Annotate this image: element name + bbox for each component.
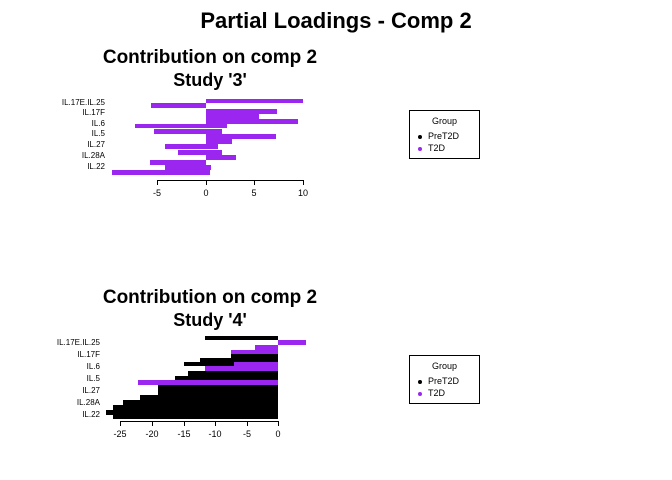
plot-area-study-4: IL.17E.IL.25 IL.17F IL.6 IL.5 IL.27 IL.2…	[0, 280, 400, 480]
bar-segment	[165, 144, 206, 149]
x-tick	[278, 421, 279, 426]
x-tick	[157, 180, 158, 185]
bar-segment	[205, 336, 278, 340]
bar-segment	[206, 134, 276, 139]
bar-segment	[112, 170, 206, 175]
bar-segment	[206, 170, 210, 175]
bar-segment	[113, 415, 278, 419]
x-tick-label: -20	[145, 429, 158, 439]
legend-item-t2d[interactable]: T2D	[418, 389, 445, 398]
bar-segment	[206, 155, 236, 160]
x-axis-line-study-3	[157, 180, 304, 181]
bar-segment	[206, 124, 227, 129]
bar-segment	[154, 129, 206, 134]
x-tick-label: -10	[208, 429, 221, 439]
bars-study-4	[0, 280, 400, 480]
x-tick-label: -5	[243, 429, 251, 439]
legend-label-pret2d: PreT2D	[428, 377, 459, 386]
x-tick-label: -5	[153, 188, 161, 198]
legend-label-t2d: T2D	[428, 389, 445, 398]
x-tick-label: 10	[298, 188, 308, 198]
x-tick	[184, 421, 185, 426]
x-tick-label: 0	[275, 429, 280, 439]
bar-segment	[206, 144, 218, 149]
figure-canvas: Partial Loadings - Comp 2 Contribution o…	[0, 0, 672, 480]
legend-item-pret2d[interactable]: PreT2D	[418, 132, 459, 141]
bar-segment	[178, 150, 206, 155]
x-tick	[254, 180, 255, 185]
legend-label-pret2d: PreT2D	[428, 132, 459, 141]
plot-area-study-3: IL.17E.IL.25 IL.17F IL.6 IL.5 IL.27 IL.2…	[0, 40, 400, 220]
legend-title: Group	[410, 361, 479, 371]
page-title: Partial Loadings - Comp 2	[0, 8, 672, 34]
legend-study-3: Group PreT2D T2D	[409, 110, 480, 159]
bar-segment	[278, 340, 306, 345]
legend-dot-t2d	[418, 147, 422, 151]
panel-study-4: Contribution on comp 2 Study '4' IL.17E.…	[0, 280, 672, 480]
legend-item-pret2d[interactable]: PreT2D	[418, 377, 459, 386]
x-tick	[303, 180, 304, 185]
legend-label-t2d: T2D	[428, 144, 445, 153]
legend-dot-pret2d	[418, 380, 422, 384]
x-axis-line-study-4	[120, 421, 279, 422]
x-tick-label: 5	[251, 188, 256, 198]
x-tick	[120, 421, 121, 426]
x-tick-label: -25	[113, 429, 126, 439]
legend-dot-t2d	[418, 392, 422, 396]
x-tick	[152, 421, 153, 426]
legend-item-t2d[interactable]: T2D	[418, 144, 445, 153]
legend-dot-pret2d	[418, 135, 422, 139]
x-tick	[206, 180, 207, 185]
x-tick	[247, 421, 248, 426]
bar-segment	[206, 99, 303, 104]
bar-segment	[151, 103, 206, 108]
legend-study-4: Group PreT2D T2D	[409, 355, 480, 404]
panel-study-3: Contribution on comp 2 Study '3' IL.17E.…	[0, 40, 672, 220]
bars-study-3	[0, 40, 400, 220]
bar-segment	[135, 124, 206, 129]
x-tick	[215, 421, 216, 426]
x-tick-label: -15	[177, 429, 190, 439]
bar-segment	[200, 103, 206, 108]
legend-title: Group	[410, 116, 479, 126]
x-tick-label: 0	[203, 188, 208, 198]
